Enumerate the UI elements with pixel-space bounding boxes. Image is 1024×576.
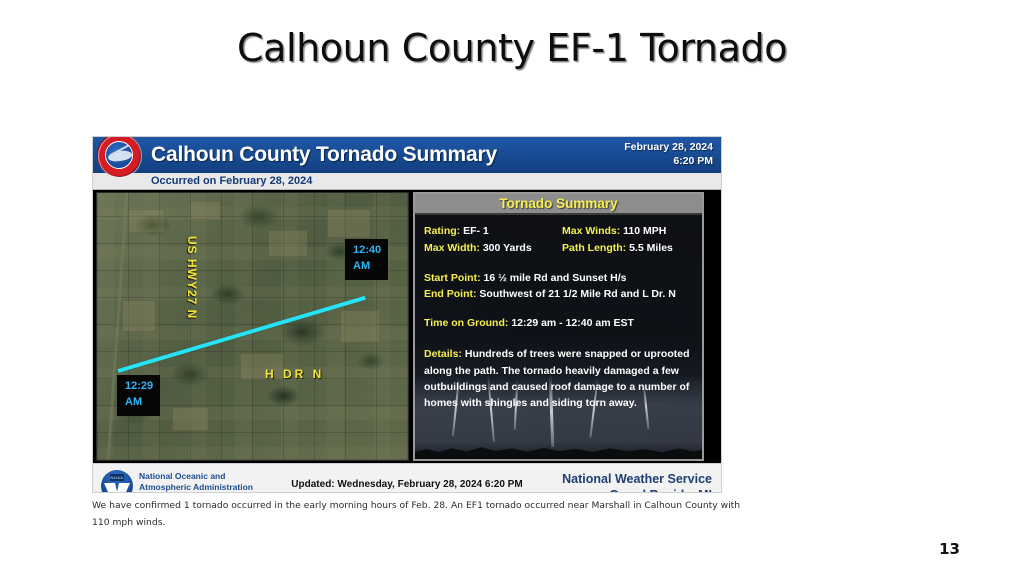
field-rating-key: Rating:: [424, 225, 460, 237]
summary-body: Rating: EF- 1 Max Winds: 110 MPH Max Wid…: [415, 215, 702, 411]
field-max-width: Max Width: 300 Yards: [424, 240, 562, 256]
end-time-meridiem: AM: [353, 259, 381, 275]
map-parcel: [128, 209, 165, 233]
map-parcel: [340, 310, 380, 342]
field-max-width-key: Max Width:: [424, 242, 480, 254]
tornado-track-map[interactable]: US HWY27 N H DR N 12:29 AM 12:40 AM: [96, 192, 409, 461]
issuing-office-line-2: Grand Rapids, MI: [562, 487, 712, 493]
highway-label: US HWY27 N: [185, 236, 199, 319]
field-path-length-key: Path Length:: [562, 242, 626, 254]
page-title: Calhoun County EF-1 Tornado: [0, 26, 1024, 70]
field-details: Details: Hundreds of trees were snapped …: [424, 346, 693, 411]
graphic-header: Calhoun County Tornado Summary February …: [93, 137, 721, 173]
graphic-footer: NOAA National Oceanic and Atmospheric Ad…: [93, 463, 721, 493]
field-path-length-value: 5.5 Miles: [629, 242, 673, 254]
graphic-subtitle: Occurred on February 28, 2024: [93, 173, 721, 190]
field-end-point: End Point: Southwest of 21 1/2 Mile Rd a…: [424, 286, 693, 302]
field-path-length: Path Length: 5.5 Miles: [562, 240, 693, 256]
start-time-value: 12:29: [125, 379, 153, 395]
graphic-date: February 28, 2024: [624, 140, 713, 154]
field-rating: Rating: EF- 1: [424, 223, 562, 239]
end-time-value: 12:40: [353, 243, 381, 259]
tornado-summary-graphic: Calhoun County Tornado Summary February …: [92, 136, 722, 493]
map-parcel: [122, 300, 156, 332]
map-parcel: [327, 209, 371, 238]
field-time-on-ground: Time on Ground: 12:29 am - 12:40 am EST: [424, 315, 693, 331]
start-time-label: 12:29 AM: [117, 375, 160, 416]
page-number: 13: [939, 540, 960, 558]
summary-field-grid: Rating: EF- 1 Max Winds: 110 MPH Max Wid…: [424, 223, 693, 257]
graphic-title: Calhoun County Tornado Summary: [151, 143, 497, 167]
field-details-value: Hundreds of trees were snapped or uproot…: [424, 348, 689, 409]
field-end-point-key: End Point:: [424, 288, 477, 300]
issuing-office-line-1: National Weather Service: [562, 471, 712, 487]
field-max-winds: Max Winds: 110 MPH: [562, 223, 693, 239]
issuing-office: National Weather Service Grand Rapids, M…: [562, 471, 712, 493]
nws-seal-icon: [97, 136, 141, 177]
map-parcel: [190, 201, 221, 220]
slide-caption: We have confirmed 1 tornado occurred in …: [92, 497, 744, 532]
field-details-key: Details:: [424, 348, 462, 360]
field-max-winds-key: Max Winds:: [562, 225, 620, 237]
tornado-summary-panel: Tornado Summary Rating: EF- 1 Max Winds:…: [413, 192, 704, 461]
end-time-label: 12:40 AM: [345, 239, 388, 280]
road-label: H DR N: [265, 367, 324, 381]
map-parcel: [268, 230, 308, 257]
graphic-time: 6:20 PM: [624, 154, 713, 168]
field-time-on-ground-value: 12:29 am - 12:40 am EST: [511, 317, 634, 329]
field-time-on-ground-key: Time on Ground:: [424, 317, 508, 329]
field-start-point: Start Point: 16 ½ mile Rd and Sunset H/s: [424, 270, 693, 286]
graphic-body: US HWY27 N H DR N 12:29 AM 12:40 AM: [93, 190, 721, 463]
field-max-winds-value: 110 MPH: [623, 225, 666, 237]
map-parcel: [172, 407, 209, 431]
treeline-silhouette: [415, 441, 702, 459]
field-start-point-key: Start Point:: [424, 272, 481, 284]
field-rating-value: EF- 1: [463, 225, 489, 237]
field-end-point-value: Southwest of 21 1/2 Mile Rd and L Dr. N: [479, 288, 675, 300]
start-time-meridiem: AM: [125, 395, 153, 411]
field-start-point-value: 16 ½ mile Rd and Sunset H/s: [484, 272, 627, 284]
slide: Calhoun County EF-1 Tornado Calhoun Coun…: [0, 0, 1024, 576]
graphic-datetime: February 28, 2024 6:20 PM: [624, 140, 713, 168]
field-max-width-value: 300 Yards: [483, 242, 532, 254]
summary-heading: Tornado Summary: [415, 194, 702, 215]
